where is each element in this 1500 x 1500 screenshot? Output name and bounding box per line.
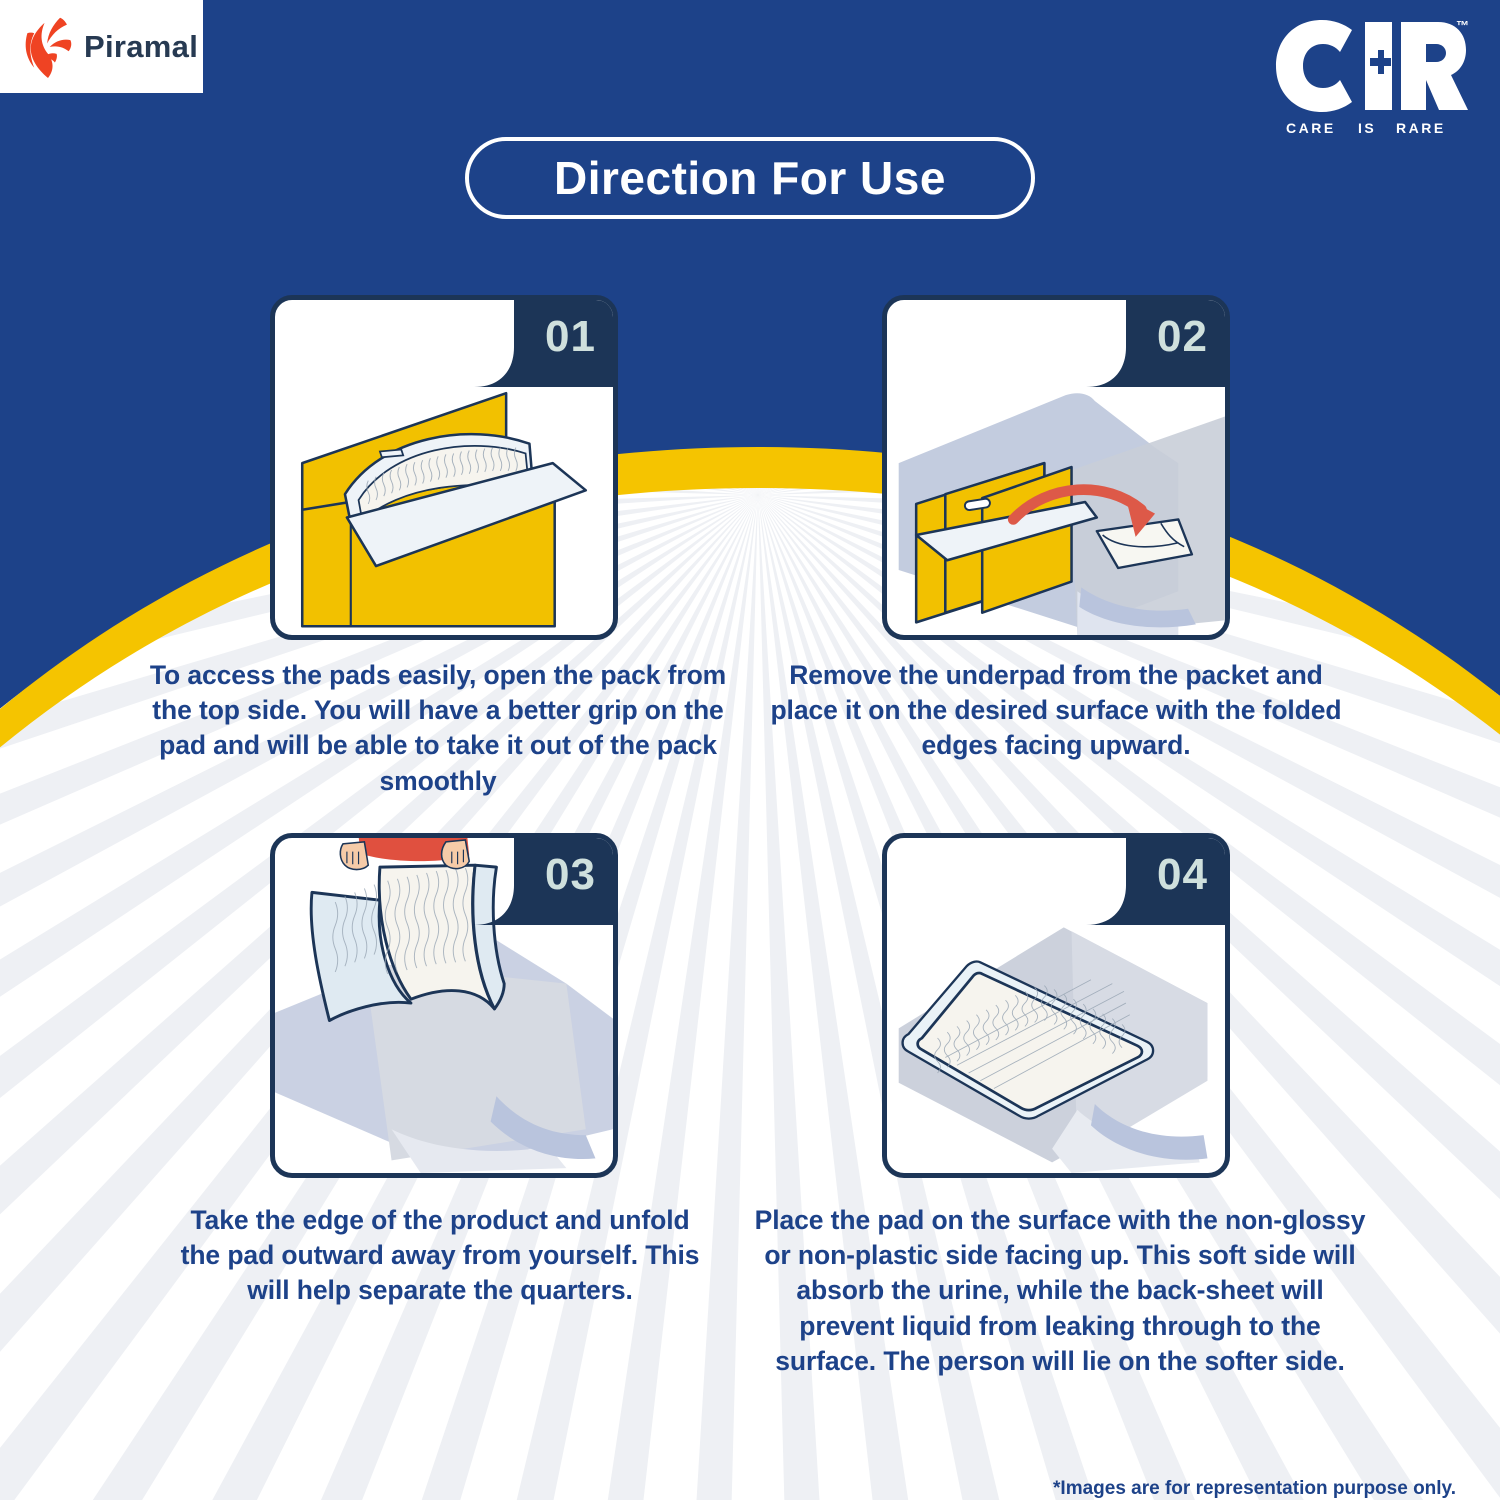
infographic-canvas: Piramal ™ CARE IS RARE Direction For Use: [0, 0, 1500, 1500]
remove-underpad-place-on-surface-illustration: [887, 300, 1225, 635]
disclaimer-text: *Images are for representation purpose o…: [0, 1478, 1456, 1500]
piramal-wordmark: Piramal: [84, 29, 198, 65]
cir-tagline-rare: RARE: [1396, 120, 1446, 136]
page-title-text: Direction For Use: [554, 151, 946, 205]
step-card-01: 01: [270, 295, 618, 640]
step-card-04: 04: [882, 833, 1230, 1178]
open-pack-from-top-illustration: [275, 300, 613, 635]
step-caption-03: Take the edge of the product and unfold …: [180, 1203, 700, 1309]
cir-tagline-care: CARE: [1286, 120, 1336, 136]
piramal-logo: Piramal: [0, 0, 203, 93]
page-title: Direction For Use: [465, 137, 1035, 219]
cir-tagline-is: IS: [1358, 120, 1376, 136]
step-card-03: 03: [270, 833, 618, 1178]
unfold-pad-outward-illustration: [275, 838, 613, 1173]
step-caption-04: Place the pad on the surface with the no…: [752, 1203, 1368, 1379]
piramal-flame-icon: [22, 16, 74, 78]
step-caption-02: Remove the underpad from the packet and …: [770, 658, 1342, 764]
cir-logo: ™ CARE IS RARE: [1270, 10, 1470, 140]
step-caption-01: To access the pads easily, open the pack…: [148, 658, 728, 799]
step-card-02: 02: [882, 295, 1230, 640]
pad-laid-flat-on-bed-illustration: [887, 838, 1225, 1173]
trademark-icon: ™: [1456, 18, 1469, 33]
